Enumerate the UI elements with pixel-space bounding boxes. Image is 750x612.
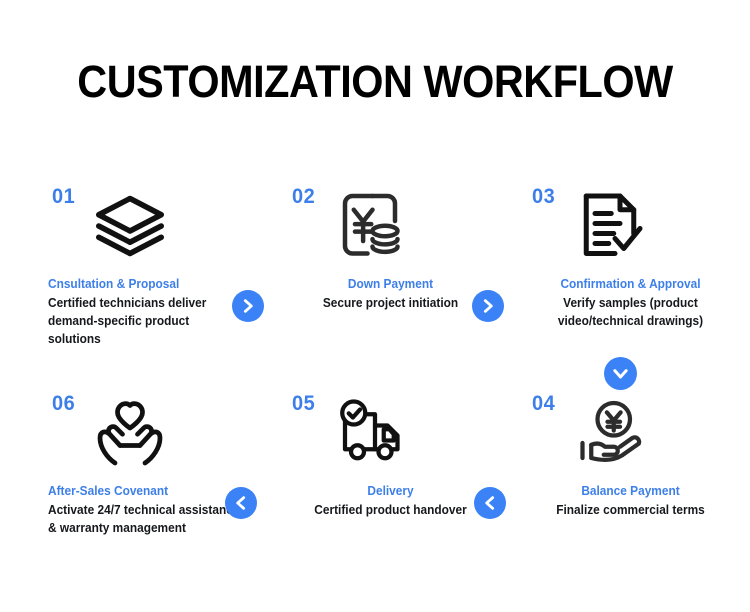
step-05-number: 05	[292, 393, 315, 414]
step-05-title: Delivery	[293, 483, 488, 500]
step-05-description: Certified product handover	[293, 501, 488, 519]
chevron-down-icon	[612, 365, 629, 382]
connector-step-04-to-05	[474, 487, 506, 519]
step-04-header: 04	[528, 393, 733, 483]
step-02-description: Secure project initiation	[293, 294, 488, 312]
workflow-step-05: 05 Delivery Certified product handover	[288, 393, 493, 519]
step-06-description: Activate 24/7 technical assistance & war…	[48, 501, 243, 537]
hands-holding-heart-icon	[90, 393, 170, 473]
step-02-number: 02	[292, 186, 315, 207]
chevron-right-icon	[480, 298, 496, 314]
step-06-number: 06	[52, 393, 75, 414]
step-04-number: 04	[532, 393, 555, 414]
chevron-left-icon	[233, 495, 249, 511]
workflow-step-03: 03 Confirmation & Approval Verify sample…	[528, 186, 733, 330]
step-03-number: 03	[532, 186, 555, 207]
layers-stack-icon	[90, 186, 170, 266]
step-01-description: Certified technicians deliver demand-spe…	[48, 294, 243, 348]
workflow-step-04: 04 Balance Payment Finalize commercial t…	[528, 393, 733, 519]
step-01-number: 01	[52, 186, 75, 207]
connector-step-01-to-02	[232, 290, 264, 322]
step-02-header: 02	[288, 186, 493, 276]
connector-step-03-to-04	[604, 357, 637, 390]
step-03-title: Confirmation & Approval	[533, 276, 728, 293]
step-06-header: 06	[48, 393, 253, 483]
page-title: CUSTOMIZATION WORKFLOW	[30, 56, 720, 108]
workflow-step-01: 01 Cnsultation & Proposal Certified tech…	[48, 186, 253, 348]
step-02-title: Down Payment	[293, 276, 488, 293]
chevron-left-icon	[482, 495, 498, 511]
step-03-description: Verify samples (product video/technical …	[533, 294, 728, 330]
step-05-header: 05	[288, 393, 493, 483]
step-04-title: Balance Payment	[533, 483, 728, 500]
step-06-title: After-Sales Covenant	[48, 483, 243, 500]
hand-holding-yen-coin-icon	[570, 393, 650, 473]
connector-step-05-to-06	[225, 487, 257, 519]
chevron-right-icon	[240, 298, 256, 314]
document-check-icon	[570, 186, 650, 266]
step-01-title: Cnsultation & Proposal	[48, 276, 243, 293]
workflow-step-06: 06 After-Sales Covenant Activate 24/7 te…	[48, 393, 253, 537]
delivery-truck-check-icon	[330, 393, 410, 473]
connector-step-02-to-03	[472, 290, 504, 322]
step-04-description: Finalize commercial terms	[533, 501, 728, 519]
yen-note-coins-icon	[330, 186, 410, 266]
workflow-step-02: 02 Down Payment Secure project initiatio…	[288, 186, 493, 312]
step-01-header: 01	[48, 186, 253, 276]
workflow-infographic: CUSTOMIZATION WORKFLOW 01 Cnsultation & …	[0, 0, 750, 612]
step-03-header: 03	[528, 186, 733, 276]
